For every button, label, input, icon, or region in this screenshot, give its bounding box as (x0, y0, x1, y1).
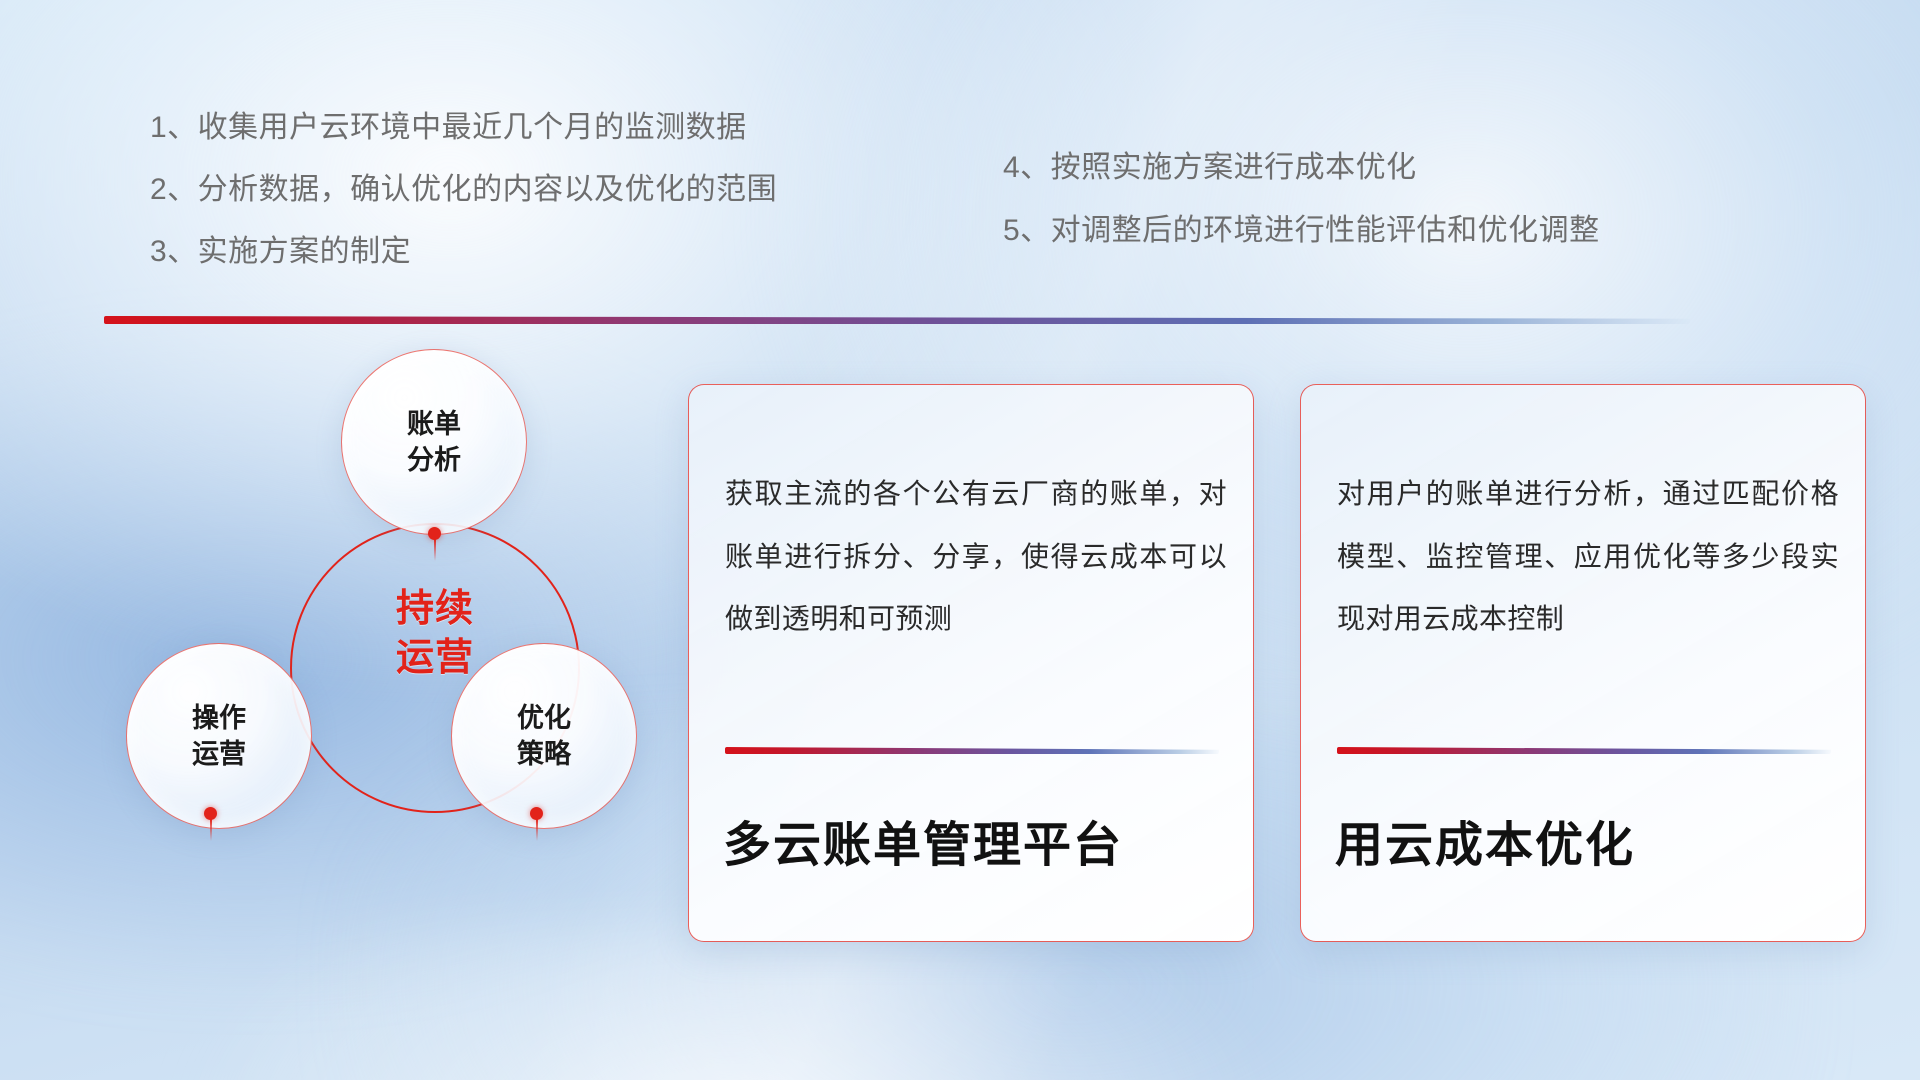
step-item-4: 4、按照实施方案进行成本优化 (1003, 153, 1600, 183)
card-title: 多云账单管理平台 (723, 805, 1223, 875)
steps-left-column: 1、收集用户云环境中最近几个月的监测数据 2、分析数据，确认优化的内容以及优化的… (150, 113, 777, 299)
diagram-node-optimize-policy[interactable]: 优化 策略 (451, 643, 637, 829)
diagram-dot-top (428, 527, 441, 540)
step-item-5: 5、对调整后的环境进行性能评估和优化调整 (1003, 216, 1600, 246)
diagram-dot-right (530, 807, 543, 820)
card-divider-gradient (725, 747, 1219, 754)
diagram-node-label-line2: 策略 (517, 736, 571, 772)
diagram-node-label-line1: 操作 (192, 700, 246, 736)
steps-section: 1、收集用户云环境中最近几个月的监测数据 2、分析数据，确认优化的内容以及优化的… (0, 0, 1920, 300)
continuous-operation-diagram: 持续 运营 账单 分析 操作 运营 优化 策略 (96, 355, 636, 935)
step-item-1: 1、收集用户云环境中最近几个月的监测数据 (150, 113, 777, 143)
card-cloud-cost-optimization[interactable]: 对用户的账单进行分析，通过匹配价格模型、监控管理、应用优化等多少段实现对用云成本… (1300, 384, 1866, 942)
steps-right-column: 4、按照实施方案进行成本优化 5、对调整后的环境进行性能评估和优化调整 (1003, 153, 1600, 279)
card-multi-cloud-bill-platform[interactable]: 获取主流的各个公有云厂商的账单，对账单进行拆分、分享，使得云成本可以做到透明和可… (688, 384, 1254, 942)
diagram-node-label-line1: 账单 (407, 406, 461, 442)
diagram-dot-left (204, 807, 217, 820)
diagram-node-label-line2: 运营 (192, 736, 246, 772)
diagram-connector-top (434, 539, 436, 561)
card-divider-gradient (1337, 747, 1831, 754)
diagram-node-bill-analysis[interactable]: 账单 分析 (341, 349, 527, 535)
diagram-connector-right (536, 819, 538, 841)
card-title: 用云成本优化 (1335, 805, 1835, 875)
card-body-text: 对用户的账单进行分析，通过匹配价格模型、监控管理、应用优化等多少段实现对用云成本… (1337, 463, 1839, 651)
diagram-node-label-line2: 分析 (407, 442, 461, 478)
diagram-node-ops-operation[interactable]: 操作 运营 (126, 643, 312, 829)
card-body-text: 获取主流的各个公有云厂商的账单，对账单进行拆分、分享，使得云成本可以做到透明和可… (725, 463, 1227, 651)
step-item-3: 3、实施方案的制定 (150, 237, 777, 267)
step-item-2: 2、分析数据，确认优化的内容以及优化的范围 (150, 175, 777, 205)
diagram-center-label-line1: 持续 (290, 585, 580, 634)
diagram-node-label-line1: 优化 (517, 700, 571, 736)
diagram-connector-left (210, 819, 212, 841)
